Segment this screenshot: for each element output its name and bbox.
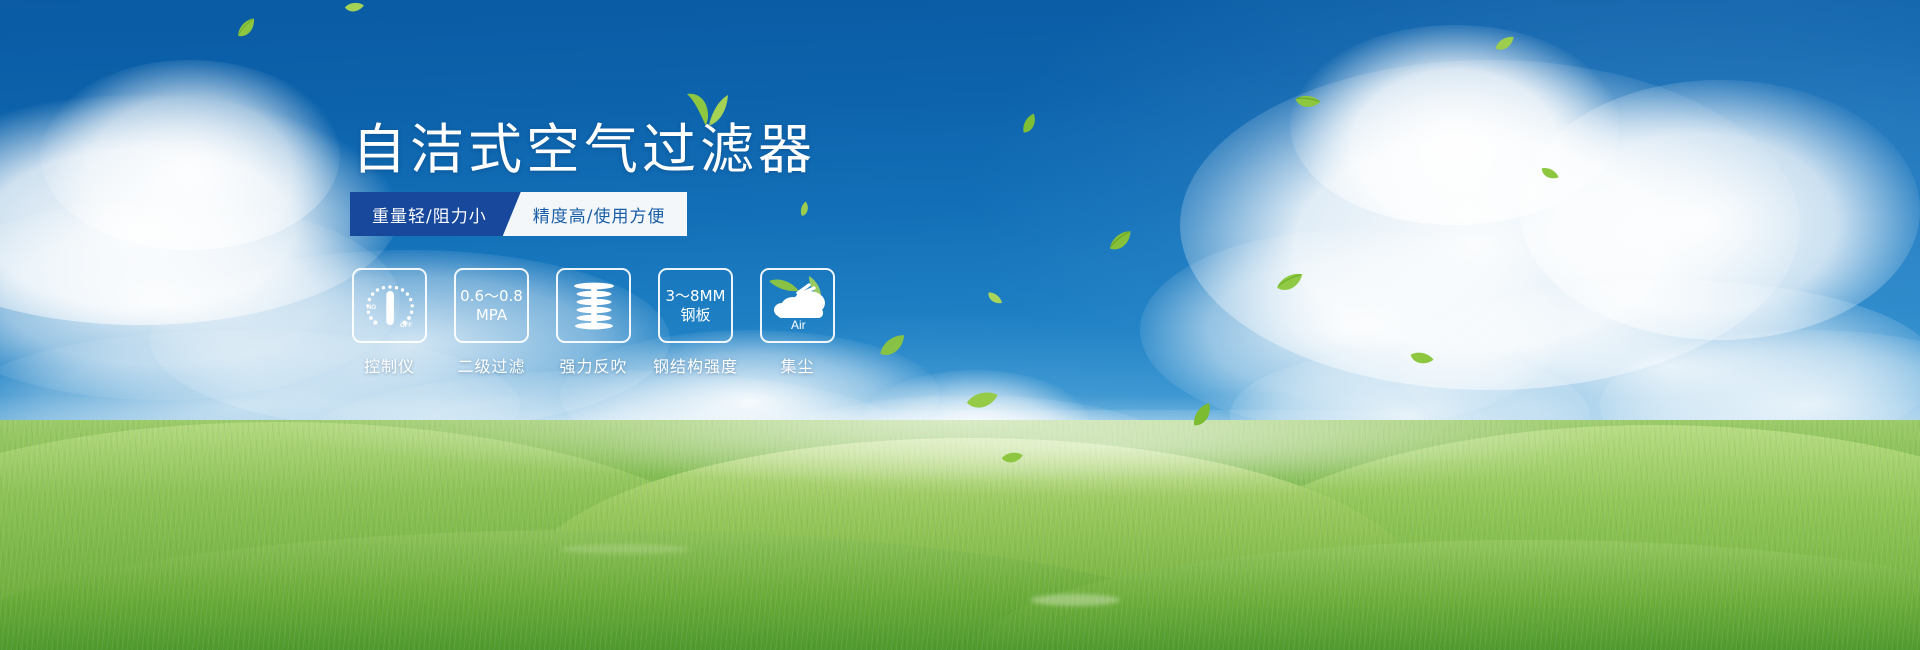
feature-label: 控制仪 — [364, 353, 415, 377]
badge-group: 重量轻/阻力小 精度高/使用方便 — [350, 192, 687, 236]
steel-material: 钢板 — [666, 306, 726, 325]
feature-label: 集尘 — [780, 353, 814, 377]
feature-label: 二级过滤 — [457, 353, 525, 377]
feature-dust-collection[interactable]: Air 集尘 — [760, 268, 835, 377]
hero-banner: 自洁式空气过滤器 重量轻/阻力小 精度高/使用方便 — [0, 0, 1920, 650]
svg-text:OFF: OFF — [400, 323, 412, 329]
feature-box — [556, 268, 631, 343]
page-title: 自洁式空气过滤器 — [352, 120, 816, 180]
feature-control-instrument[interactable]: NO OFF 控制仪 — [352, 268, 427, 377]
steelplate-icon: 3～8MM 钢板 — [666, 287, 726, 325]
pressure-unit: MPA — [460, 306, 523, 325]
feature-label: 钢结构强度 — [653, 353, 738, 377]
feature-two-stage-filter[interactable]: 0.6～0.8 MPA 二级过滤 — [454, 268, 529, 377]
feature-strong-backblow[interactable]: 强力反吹 — [556, 268, 631, 377]
feature-icon-row: NO OFF 控制仪 0.6～0.8 MPA 二级过滤 — [352, 268, 835, 377]
air-label: Air — [791, 318, 806, 332]
svg-text:NO: NO — [367, 305, 376, 311]
feature-box: NO OFF — [352, 268, 427, 343]
gauge-icon: NO OFF — [362, 279, 418, 333]
feature-box: 0.6～0.8 MPA — [454, 268, 529, 343]
feature-box: 3～8MM 钢板 — [658, 268, 733, 343]
feature-steel-structure[interactable]: 3～8MM 钢板 钢结构强度 — [658, 268, 733, 377]
feature-box: Air — [760, 268, 835, 343]
pressure-range: 0.6～0.8 — [460, 287, 523, 306]
backblow-icon — [570, 279, 618, 333]
steel-thickness: 3～8MM — [666, 287, 726, 306]
banner-content: 自洁式空气过滤器 重量轻/阻力小 精度高/使用方便 — [0, 0, 1920, 650]
badge-lightweight[interactable]: 重量轻/阻力小 — [350, 192, 521, 236]
badge-precision[interactable]: 精度高/使用方便 — [503, 192, 688, 236]
feature-label: 强力反吹 — [559, 353, 627, 377]
air-cloud-icon: Air — [765, 275, 831, 333]
pressure-icon: 0.6～0.8 MPA — [460, 287, 523, 325]
